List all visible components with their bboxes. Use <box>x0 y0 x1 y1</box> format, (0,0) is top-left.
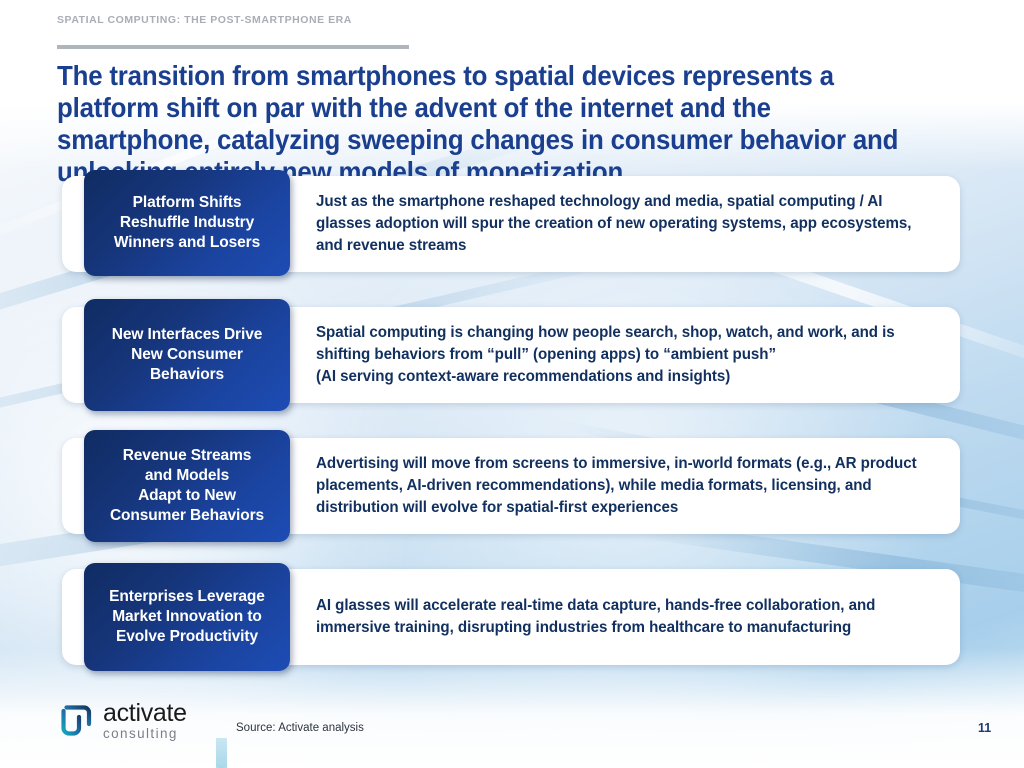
row-body-text: Advertising will move from screens to im… <box>316 453 927 519</box>
row-label-badge[interactable]: New Interfaces Drive New Consumer Behavi… <box>84 299 290 411</box>
row-body: Advertising will move from screens to im… <box>316 430 946 542</box>
activate-logo-icon <box>60 704 94 738</box>
eyebrow-section: SPATIAL COMPUTING: THE POST-SMARTPHONE E… <box>57 14 357 26</box>
row-body: AI glasses will accelerate real-time dat… <box>316 561 946 673</box>
source-note: Source: Activate analysis <box>236 722 364 734</box>
eyebrow-divider <box>57 45 409 49</box>
row-body: Spatial computing is changing how people… <box>316 299 946 411</box>
logo-primary-text: activate <box>103 701 187 726</box>
row-body-text: Spatial computing is changing how people… <box>316 322 927 388</box>
row-label-text: New Interfaces Drive New Consumer Behavi… <box>112 325 263 385</box>
row-label-text: Revenue Streams and Models Adapt to New … <box>110 446 264 526</box>
row-body: Just as the smartphone reshaped technolo… <box>316 168 946 280</box>
eyebrow-label: SPATIAL COMPUTING: THE POST-SMARTPHONE E… <box>57 14 357 26</box>
row-body-text: AI glasses will accelerate real-time dat… <box>316 595 927 639</box>
logo-wordmark: activate consulting <box>103 701 187 741</box>
brand-logo: activate consulting <box>60 701 187 741</box>
page-number: 11 <box>978 721 991 735</box>
row-body-text: Just as the smartphone reshaped technolo… <box>316 191 927 257</box>
content-row: New Interfaces Drive New Consumer Behavi… <box>0 299 1024 409</box>
content-rows: Platform Shifts Reshuffle Industry Winne… <box>0 168 1024 692</box>
logo-secondary-text: consulting <box>103 727 187 741</box>
content-row: Enterprises Leverage Market Innovation t… <box>0 561 1024 671</box>
slide-canvas: SPATIAL COMPUTING: THE POST-SMARTPHONE E… <box>0 0 1024 768</box>
bottom-accent-bar <box>216 738 227 768</box>
row-label-badge[interactable]: Platform Shifts Reshuffle Industry Winne… <box>84 170 290 276</box>
content-row: Revenue Streams and Models Adapt to New … <box>0 430 1024 540</box>
row-label-text: Platform Shifts Reshuffle Industry Winne… <box>114 193 260 253</box>
content-row: Platform Shifts Reshuffle Industry Winne… <box>0 168 1024 278</box>
row-label-badge[interactable]: Revenue Streams and Models Adapt to New … <box>84 430 290 542</box>
row-label-badge[interactable]: Enterprises Leverage Market Innovation t… <box>84 563 290 671</box>
row-label-text: Enterprises Leverage Market Innovation t… <box>109 587 265 647</box>
